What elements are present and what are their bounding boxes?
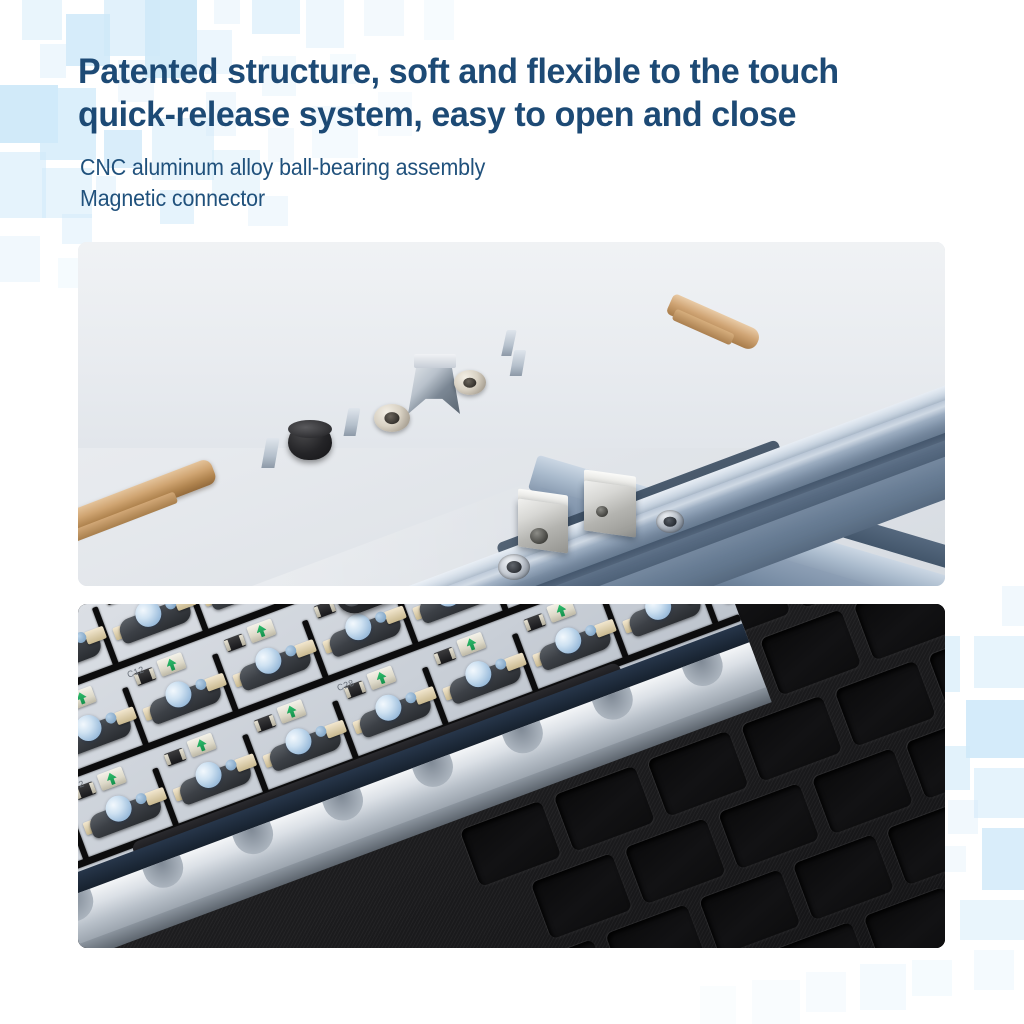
decor-square [948,800,978,834]
decor-square [40,44,66,78]
decor-square [974,950,1014,990]
decor-square [700,986,736,1024]
product-photo-pcb-and-magnetic-connector: D23D22C28D14D10D4D5D8P1SW5D1C12D9D23D22C… [78,604,945,948]
hotswap-pad [294,639,317,658]
rail-notch [78,889,99,927]
plate-cutout [699,869,801,948]
decor-square [364,0,404,36]
plate-cutout [793,834,895,920]
decor-square [62,214,92,244]
decor-square [22,0,62,40]
decor-square [966,700,1024,758]
decor-square [0,152,46,218]
decor-square [252,0,300,34]
decor-square [982,828,1024,890]
decor-square [860,964,906,1010]
decor-square [424,0,454,40]
decor-square [104,0,160,56]
hotswap-pad [594,619,617,638]
decor-square [1002,586,1024,626]
decor-square [752,980,800,1024]
plate-cutout [512,939,614,948]
hotswap-pad [324,720,347,739]
screw-boss [454,370,486,395]
decor-square [0,236,40,282]
page-subtitle: CNC aluminum alloy ball-bearing assembly… [80,152,917,214]
decor-square [0,85,58,143]
steel-bracket-top [414,354,456,368]
subtitle-line-2: Magnetic connector [80,183,917,214]
screw-boss [374,404,410,432]
headline-line-1: Patented structure, soft and flexible to… [78,50,938,93]
product-photo-rail-assembly [78,242,945,586]
hotswap-pad [384,605,407,624]
plate-cutout [854,604,945,661]
hotswap-pad [204,673,227,692]
hotswap-pad [504,652,527,671]
decor-square [214,0,240,24]
decor-square [912,960,952,996]
decor-square [974,636,1024,688]
hotswap-pad [234,753,257,772]
page-title: Patented structure, soft and flexible to… [78,50,938,136]
rubber-bumper-highlight [288,420,332,438]
decor-square [806,972,846,1012]
plate-cutout [812,748,914,834]
plate-cutout [834,660,936,746]
headline-line-2: quick-release system, easy to open and c… [78,93,938,136]
hotswap-pad [84,626,107,645]
decor-square [306,0,344,48]
decor-square [974,768,1024,818]
hotswap-pad [414,686,437,705]
hotswap-pad [114,706,137,725]
subtitle-line-1: CNC aluminum alloy ball-bearing assembly [80,152,917,183]
plate-cutout [760,609,862,695]
connector-magnet [338,604,366,610]
decor-square [960,900,1024,940]
hotswap-pad [144,787,167,806]
plate-cutout [886,799,945,885]
